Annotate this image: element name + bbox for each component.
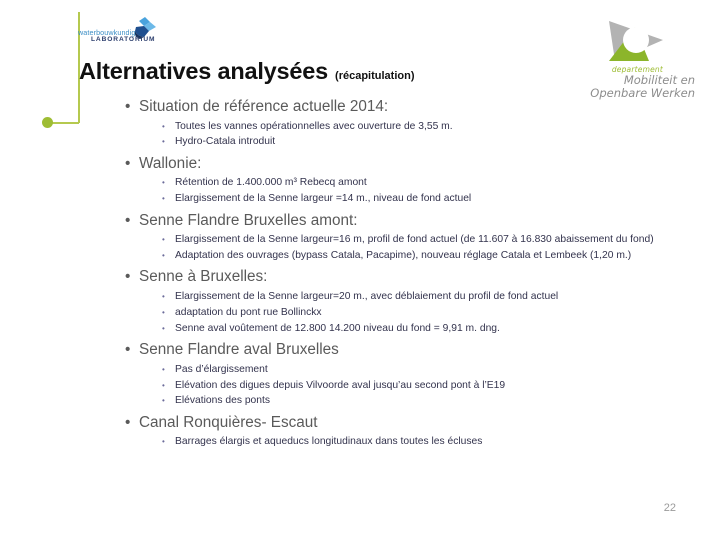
outline-item-label: adaptation du pont rue Bollinckx: [175, 306, 670, 319]
outline-heading-label: Wallonie:: [139, 154, 670, 174]
sub-bullet-icon: •: [162, 120, 175, 133]
bullet-icon: •: [125, 154, 139, 174]
sub-bullet-icon: •: [162, 394, 175, 407]
bullet-icon: •: [125, 340, 139, 360]
sub-bullet-icon: •: [162, 135, 175, 148]
page-title: Alternatives analysées (récapitulation): [79, 58, 414, 85]
outline-item: •Hydro-Catala introduit: [162, 135, 670, 148]
bullet-icon: •: [125, 97, 139, 117]
outline-item: •Rétention de 1.400.000 m³ Rebecq amont: [162, 176, 670, 189]
group-spacer: [125, 262, 670, 266]
outline-group: •Senne Flandre aval Bruxelles•Pas d’élar…: [125, 340, 670, 412]
bullet-icon: •: [125, 413, 139, 433]
slide-content: •Situation de référence actuelle 2014:•T…: [125, 96, 670, 453]
sub-bullet-icon: •: [162, 176, 175, 189]
sub-bullet-icon: •: [162, 435, 175, 448]
outline-item-label: Toutes les vannes opérationnelles avec o…: [175, 120, 670, 133]
sub-bullet-icon: •: [162, 192, 175, 205]
sub-bullet-icon: •: [162, 233, 175, 246]
outline-heading: •Senne Flandre aval Bruxelles: [125, 340, 670, 360]
group-spacer: [125, 449, 670, 453]
outline-heading: •Canal Ronquières- Escaut: [125, 413, 670, 433]
waterbouwkundig-laboratorium-logo: waterbouwkundig LABORATORIUM: [78, 17, 168, 49]
sub-bullet-icon: •: [162, 249, 175, 262]
outline-item: •Toutes les vannes opérationnelles avec …: [162, 120, 670, 133]
page-number: 22: [664, 502, 676, 514]
group-spacer: [125, 149, 670, 153]
group-spacer: [125, 335, 670, 339]
outline-heading-label: Senne Flandre Bruxelles amont:: [139, 211, 670, 231]
outline-group: •Senne à Bruxelles:•Elargissement de la …: [125, 267, 670, 339]
decorative-horizontal-line: [52, 122, 79, 124]
outline-item: •Senne aval voûtement de 12.800 14.200 n…: [162, 322, 670, 335]
group-spacer: [125, 408, 670, 412]
sub-bullet-icon: •: [162, 306, 175, 319]
sub-bullet-icon: •: [162, 322, 175, 335]
outline-item-label: Rétention de 1.400.000 m³ Rebecq amont: [175, 176, 670, 189]
outline-item: •Elévation des digues depuis Vilvoorde a…: [162, 379, 670, 392]
outline-item-label: Elargissement de la Senne largeur =14 m.…: [175, 192, 670, 205]
logo-mow-line-1: Mobiliteit en: [624, 73, 695, 87]
outline-heading-label: Senne Flandre aval Bruxelles: [139, 340, 670, 360]
outline-item: •Barrages élargis et aqueducs longitudin…: [162, 435, 670, 448]
outline-item: •Pas d’élargissement: [162, 363, 670, 376]
outline-group: •Senne Flandre Bruxelles amont:•Elargiss…: [125, 211, 670, 267]
group-spacer: [125, 206, 670, 210]
outline-item: •Elargissement de la Senne largeur =14 m…: [162, 192, 670, 205]
bullet-icon: •: [125, 211, 139, 231]
outline-item-label: Elargissement de la Senne largeur=20 m.,…: [175, 290, 670, 303]
outline-heading: •Situation de référence actuelle 2014:: [125, 97, 670, 117]
outline-group: •Canal Ronquières- Escaut•Barrages élarg…: [125, 413, 670, 453]
sub-bullet-icon: •: [162, 290, 175, 303]
outline-item: •Elévations des ponts: [162, 394, 670, 407]
outline-heading-label: Canal Ronquières- Escaut: [139, 413, 670, 433]
page-title-subtitle: (récapitulation): [335, 70, 414, 82]
outline-heading: •Senne à Bruxelles:: [125, 267, 670, 287]
outline-item-label: Adaptation des ouvrages (bypass Catala, …: [175, 249, 670, 262]
departement-mow-logo: departement Mobiliteit en Openbare Werke…: [575, 18, 695, 93]
outline-item: •Elargissement de la Senne largeur=16 m,…: [162, 233, 670, 246]
outline-item-label: Pas d’élargissement: [175, 363, 670, 376]
flemish-government-triangle-icon: [605, 18, 667, 69]
outline-heading-label: Situation de référence actuelle 2014:: [139, 97, 670, 117]
page-title-main: Alternatives analysées: [79, 58, 328, 85]
sub-bullet-icon: •: [162, 379, 175, 392]
decorative-dot: [42, 117, 53, 128]
sub-bullet-icon: •: [162, 363, 175, 376]
outline-item-label: Senne aval voûtement de 12.800 14.200 ni…: [175, 322, 670, 335]
outline-item-label: Elévation des digues depuis Vilvoorde av…: [175, 379, 670, 392]
outline-group: •Situation de référence actuelle 2014:•T…: [125, 97, 670, 153]
outline-heading: •Wallonie:: [125, 154, 670, 174]
bullet-icon: •: [125, 267, 139, 287]
outline-item-label: Elargissement de la Senne largeur=16 m, …: [175, 233, 670, 246]
outline-heading-label: Senne à Bruxelles:: [139, 267, 670, 287]
outline-item: •Adaptation des ouvrages (bypass Catala,…: [162, 249, 670, 262]
outline-group: •Wallonie:•Rétention de 1.400.000 m³ Reb…: [125, 154, 670, 210]
outline-item: •Elargissement de la Senne largeur=20 m.…: [162, 290, 670, 303]
outline-item-label: Hydro-Catala introduit: [175, 135, 670, 148]
outline-heading: •Senne Flandre Bruxelles amont:: [125, 211, 670, 231]
outline-item-label: Barrages élargis et aqueducs longitudina…: [175, 435, 670, 448]
outline-item-label: Elévations des ponts: [175, 394, 670, 407]
outline-item: • adaptation du pont rue Bollinckx: [162, 306, 670, 319]
logo-line-2: LABORATORIUM: [91, 36, 155, 43]
